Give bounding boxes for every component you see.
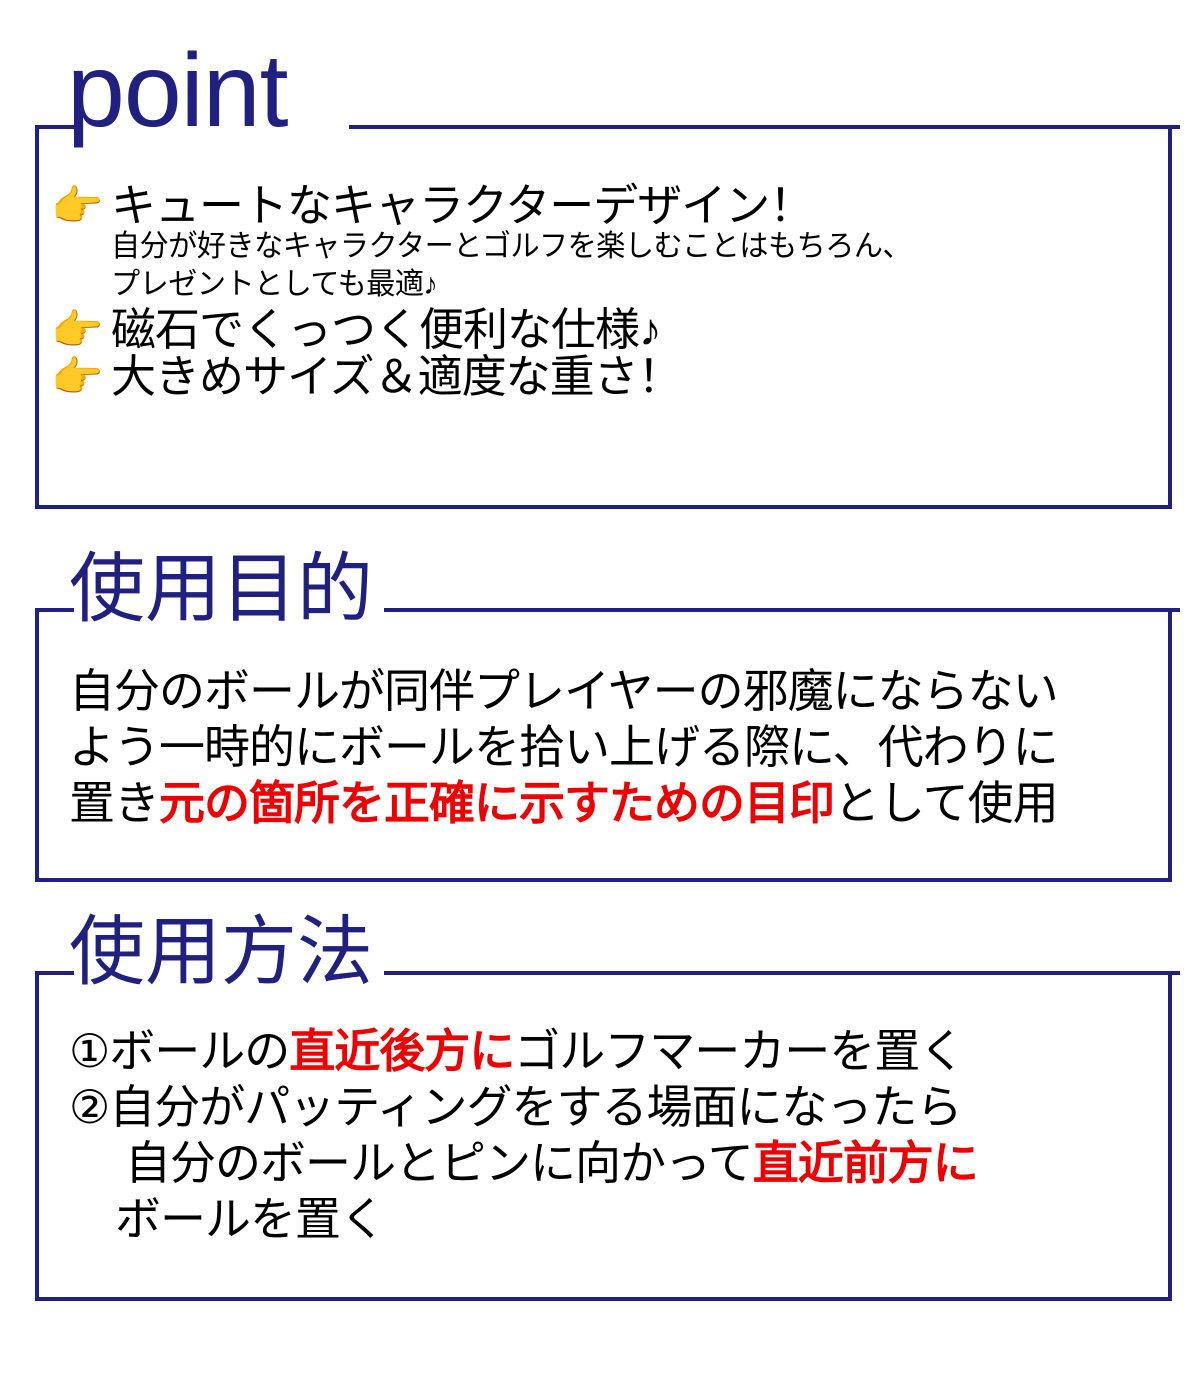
- bullet-row: 👉 大きめサイズ＆適度な重さ！: [51, 354, 1151, 399]
- text-line: 自分のボールが同伴プレイヤーの邪魔にならない: [69, 663, 1058, 719]
- text-line: よう一時的にボールを拾い上げる際に、代わりに: [69, 719, 1058, 775]
- bullet-sub-text-line2: プレゼントとしても最適♪: [111, 266, 1120, 304]
- bullet-main-text: 大きめサイズ＆適度な重さ！: [111, 354, 682, 399]
- text-run: ボールを置く: [115, 1193, 385, 1245]
- text-run: ②自分がパッティングをする場面になったら: [69, 1081, 961, 1133]
- pointing-hand-icon: 👉: [51, 356, 111, 398]
- bullet-row: 👉 キュートなキャラクターデザイン！: [51, 183, 1151, 228]
- bullet-row: 👉 磁石でくっつく便利な仕様♪: [51, 307, 1151, 352]
- point-bullet-list: 👉 キュートなキャラクターデザイン！ 自分が好きなキャラクターとゴルフを楽しむこ…: [51, 183, 1151, 399]
- text-line: ①ボールの直近後方にゴルフマーカーを置く: [69, 1023, 978, 1079]
- panel-top-rule-right: [349, 125, 1180, 129]
- purpose-panel: 使用目的 自分のボールが同伴プレイヤーの邪魔にならない よう一時的にボールを拾い…: [35, 608, 1172, 882]
- pointing-hand-icon: 👉: [51, 185, 111, 227]
- text-line: 自分のボールとピンに向かって直近前方に: [69, 1135, 978, 1191]
- list-item: 👉 キュートなキャラクターデザイン！ 自分が好きなキャラクターとゴルフを楽しむこ…: [51, 183, 1151, 305]
- purpose-body-text: 自分のボールが同伴プレイヤーの邪魔にならない よう一時的にボールを拾い上げる際に…: [69, 663, 1058, 831]
- bullet-main-text: キュートなキャラクターデザイン！: [111, 183, 813, 228]
- emphasis-text: 直近前方に: [753, 1137, 978, 1189]
- emphasis-text: 直近後方に: [289, 1025, 514, 1077]
- pointing-hand-icon: 👉: [51, 309, 111, 351]
- method-body-text: ①ボールの直近後方にゴルフマーカーを置く ②自分がパッティングをする場面になった…: [69, 1023, 978, 1247]
- text-run: 置き: [69, 777, 159, 829]
- section-title-method: 使用方法: [69, 915, 373, 991]
- emphasis-text: 元の箇所を正確に示すための目印: [159, 777, 834, 829]
- section-title-purpose: 使用目的: [69, 552, 373, 628]
- text-run: よう一時的にボールを拾い上げる際に、代わりに: [69, 721, 1058, 773]
- text-run: として使用: [834, 777, 1058, 829]
- point-panel: point 👉 キュートなキャラクターデザイン！ 自分が好きなキャラクターとゴル…: [35, 125, 1172, 509]
- section-title-point: point: [67, 39, 288, 143]
- method-panel: 使用方法 ①ボールの直近後方にゴルフマーカーを置く ②自分がパッティングをする場…: [35, 971, 1172, 1301]
- panel-top-rule-right: [384, 971, 1180, 975]
- bullet-sub-text-line1: 自分が好きなキャラクターとゴルフを楽しむことはもちろん、: [111, 228, 1120, 266]
- panel-top-rule-right: [384, 608, 1180, 612]
- text-line: ボールを置く: [69, 1191, 978, 1247]
- text-line: 置き元の箇所を正確に示すための目印として使用: [69, 775, 1058, 831]
- bullet-main-text: 磁石でくっつく便利な仕様♪: [111, 307, 661, 352]
- text-run: ゴルフマーカーを置く: [514, 1025, 964, 1077]
- text-run: 自分のボールとピンに向かって: [125, 1137, 753, 1189]
- text-run: 自分のボールが同伴プレイヤーの邪魔にならない: [69, 665, 1058, 717]
- text-line: ②自分がパッティングをする場面になったら: [69, 1079, 978, 1135]
- text-run: ①ボールの: [69, 1025, 289, 1077]
